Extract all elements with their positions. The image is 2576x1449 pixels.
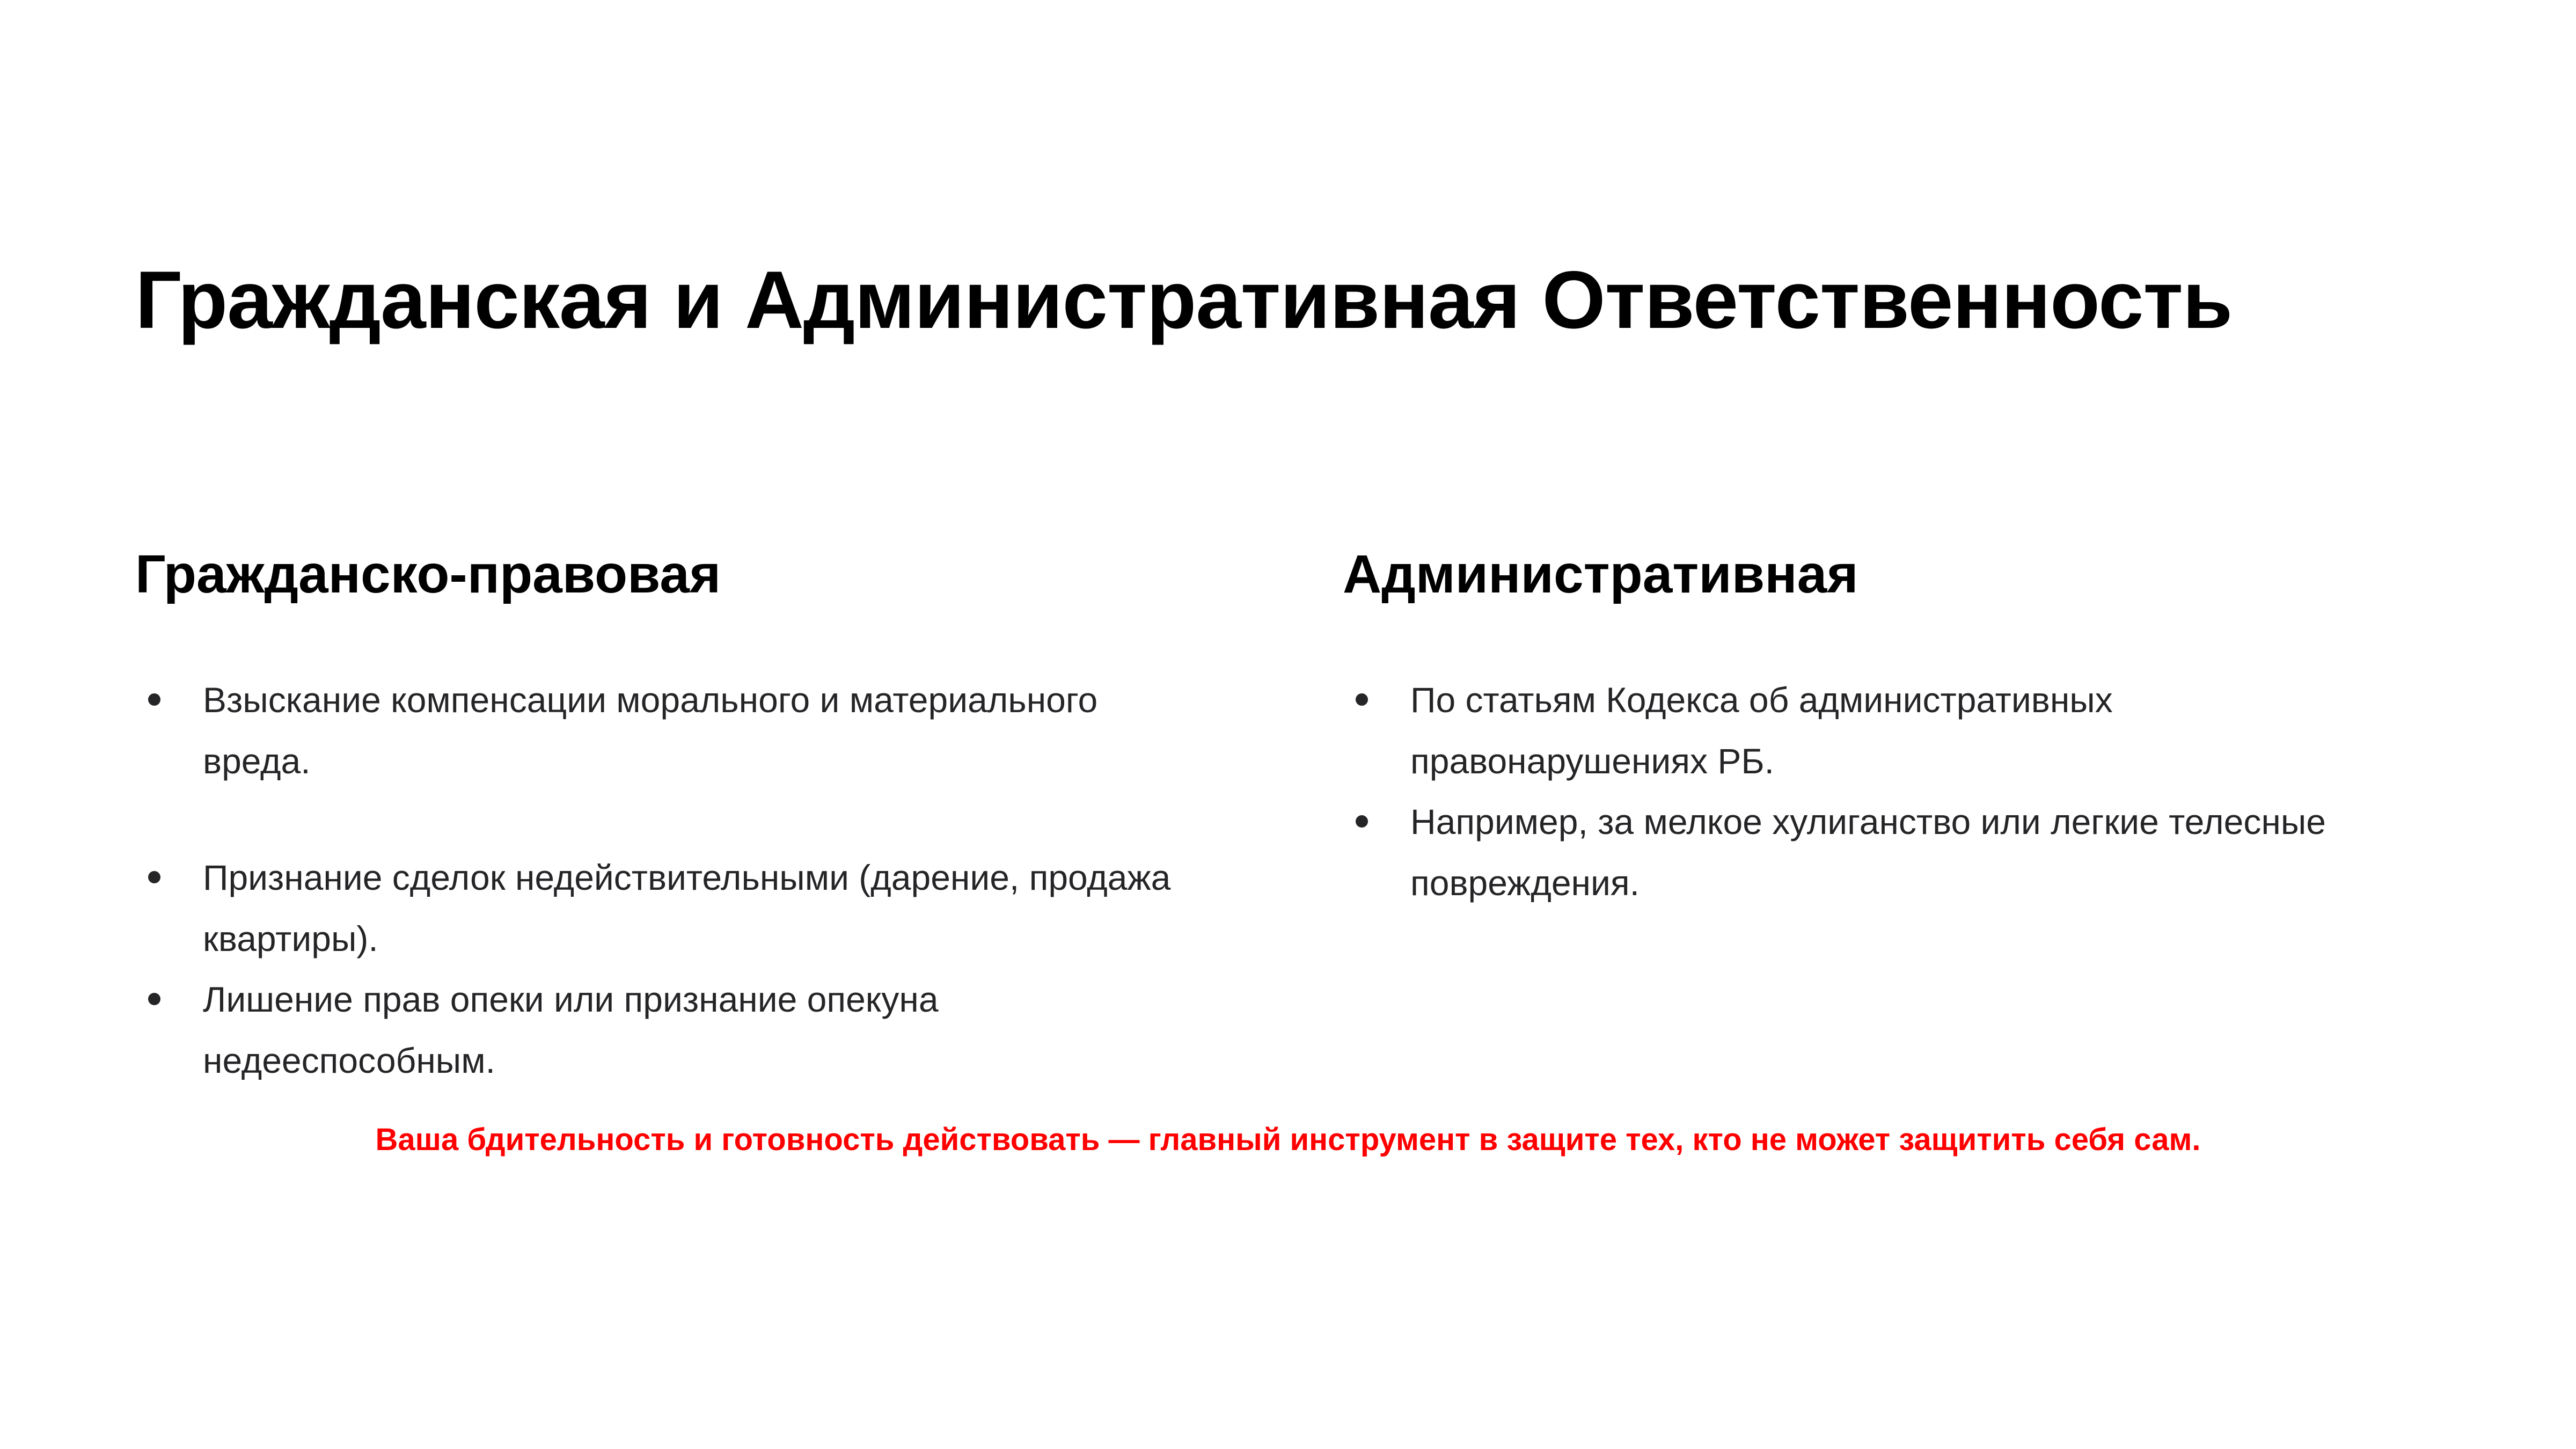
list-item-text: Например, за мелкое хулиганство или легк…: [1410, 802, 2326, 903]
list-item-text: По статьям Кодекса об административных п…: [1410, 680, 2113, 781]
column-administrative-liability: Административная По статьям Кодекса об а…: [1207, 542, 2415, 913]
list-item-text: Лишение прав опеки или признание опекуна…: [203, 979, 939, 1080]
list-item: Признание сделок недействительными (даре…: [135, 847, 1186, 969]
column-heading-administrative: Административная: [1343, 542, 2394, 606]
list-item: Например, за мелкое хулиганство или легк…: [1343, 792, 2394, 913]
slide-canvas: Гражданская и Административная Ответстве…: [0, 0, 2576, 1449]
bullet-dot-icon: [148, 693, 160, 706]
page-title: Гражданская и Административная Ответстве…: [135, 254, 2454, 346]
bullet-dot-icon: [148, 993, 160, 1005]
emphasis-callout-text: Ваша бдительность и готовность действова…: [0, 1119, 2576, 1160]
list-item: Лишение прав опеки или признание опекуна…: [135, 969, 1186, 1091]
bullet-list-civil: Взыскание компенсации морального и матер…: [135, 670, 1186, 1091]
bullet-dot-icon: [1356, 815, 1368, 828]
bullet-dot-icon: [148, 871, 160, 883]
two-column-content: Гражданско-правовая Взыскание компенсаци…: [0, 542, 2576, 1091]
list-item-text: Признание сделок недействительными (даре…: [203, 858, 1170, 958]
bullet-dot-icon: [1356, 693, 1368, 706]
list-item: Взыскание компенсации морального и матер…: [135, 670, 1186, 792]
column-civil-liability: Гражданско-правовая Взыскание компенсаци…: [0, 542, 1207, 1091]
list-item-text: Взыскание компенсации морального и матер…: [203, 680, 1097, 781]
list-item: По статьям Кодекса об административных п…: [1343, 670, 2394, 792]
bullet-list-administrative: По статьям Кодекса об административных п…: [1343, 670, 2394, 913]
column-heading-civil: Гражданско-правовая: [135, 542, 1186, 606]
